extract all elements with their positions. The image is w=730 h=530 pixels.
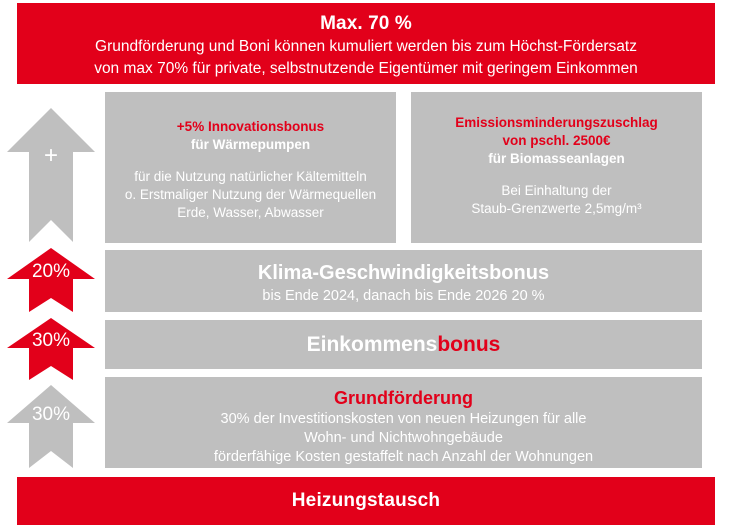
- innovation-bonus-line-2: o. Erstmaliger Nutzung der Wärmequellen: [105, 186, 396, 204]
- innovation-bonus-box: +5% Innovationsbonus für Wärmepumpen für…: [105, 92, 396, 243]
- base-funding-title: Grundförderung: [105, 386, 702, 410]
- arrow-bonus-20: 20%: [7, 248, 95, 312]
- spacer: [411, 168, 702, 182]
- up-arrow-icon: [7, 248, 95, 312]
- arrow-base-30: 30%: [7, 385, 95, 468]
- up-arrow-icon: [7, 108, 95, 242]
- base-funding-line-3: förderfähige Kosten gestaffelt nach Anza…: [105, 448, 702, 467]
- income-bonus-title-white: Einkommens: [307, 333, 438, 356]
- innovation-bonus-subtitle: für Wärmepumpen: [105, 136, 396, 154]
- emission-subtitle: für Biomasseanlagen: [411, 150, 702, 168]
- bottom-red-banner: Heizungstausch: [17, 477, 715, 525]
- up-arrow-icon: [7, 318, 95, 380]
- income-bonus-box: Einkommensbonus: [105, 320, 702, 369]
- innovation-bonus-line-3: Erde, Wasser, Abwasser: [105, 204, 396, 222]
- arrow-bonus-30-income: 30%: [7, 318, 95, 380]
- spacer: [105, 154, 396, 168]
- base-funding-line-2: Wohn- und Nichtwohngebäude: [105, 429, 702, 448]
- klima-bonus-title: Klima-Geschwindigkeitsbonus: [105, 260, 702, 286]
- klima-speed-bonus-box: Klima-Geschwindigkeitsbonus bis Ende 202…: [105, 250, 702, 312]
- emission-line-2: Staub-Grenzwerte 2,5mg/m³: [411, 200, 702, 218]
- income-bonus-title-accent: bonus: [437, 333, 500, 356]
- arrow-plus: +: [7, 108, 95, 242]
- base-funding-line-1: 30% der Investitionskosten von neuen Hei…: [105, 410, 702, 429]
- top-banner-line-1: Grundförderung und Boni können kumuliert…: [17, 36, 715, 58]
- base-funding-box: Grundförderung 30% der Investitionskoste…: [105, 377, 702, 468]
- innovation-bonus-title: +5% Innovationsbonus: [105, 118, 396, 136]
- innovation-bonus-line-1: für die Nutzung natürlicher Kältemitteln: [105, 168, 396, 186]
- infographic-root: Max. 70 % Grundförderung und Boni können…: [0, 0, 730, 530]
- heizungstausch-label: Heizungstausch: [292, 490, 441, 512]
- income-bonus-title: Einkommensbonus: [307, 333, 501, 357]
- emission-reduction-box: Emissionsminderungszuschlag von pschl. 2…: [411, 92, 702, 243]
- max-percent-headline: Max. 70 %: [17, 12, 715, 36]
- emission-line-1: Bei Einhaltung der: [411, 182, 702, 200]
- top-banner-line-2: von max 70% für private, selbstnutzende …: [17, 58, 715, 80]
- up-arrow-icon: [7, 385, 95, 468]
- top-red-banner: Max. 70 % Grundförderung und Boni können…: [17, 3, 715, 84]
- emission-title-line-2: von pschl. 2500€: [411, 132, 702, 150]
- klima-bonus-subtitle: bis Ende 2024, danach bis Ende 2026 20 %: [105, 286, 702, 306]
- emission-title-line-1: Emissionsminderungszuschlag: [411, 114, 702, 132]
